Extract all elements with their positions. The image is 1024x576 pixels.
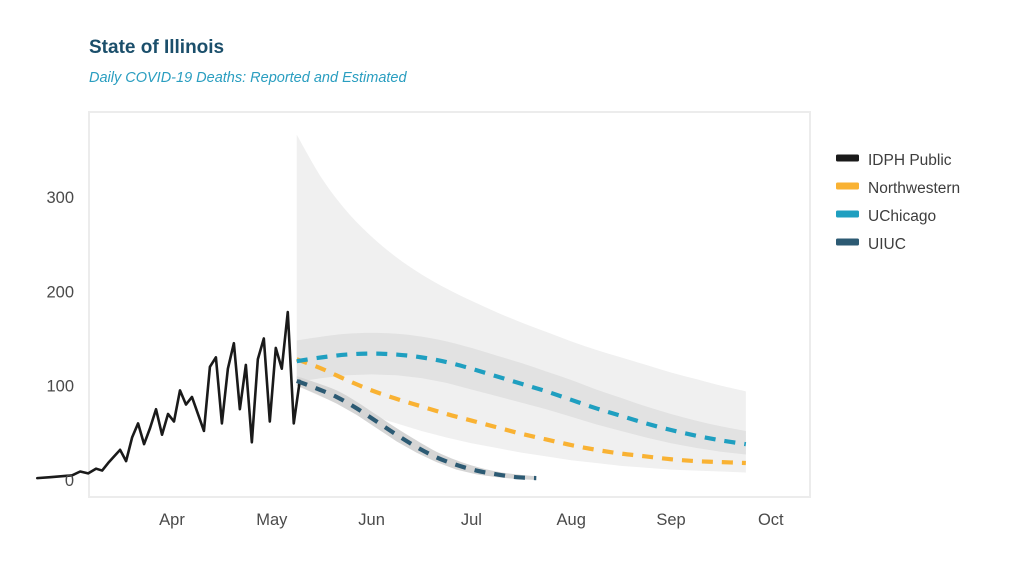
figure-background: [0, 0, 1024, 576]
x-tick-label: Aug: [557, 511, 586, 529]
x-tick-label: Jun: [358, 511, 385, 529]
legend-label[interactable]: UIUC: [868, 236, 906, 253]
legend-label[interactable]: UChicago: [868, 208, 936, 225]
page-title: State of Illinois: [89, 37, 224, 58]
legend-label[interactable]: IDPH Public: [868, 152, 952, 169]
chart-subtitle: Daily COVID-19 Deaths: Reported and Esti…: [89, 70, 407, 86]
x-tick-label: Sep: [656, 511, 685, 529]
y-tick-label: 0: [65, 472, 74, 490]
y-tick-label: 300: [46, 189, 74, 207]
x-tick-label: May: [256, 511, 288, 529]
y-tick-label: 200: [46, 283, 74, 301]
x-tick-label: Oct: [758, 511, 784, 529]
y-tick-label: 100: [46, 378, 74, 396]
legend-swatch: [836, 155, 859, 162]
x-tick-label: Apr: [159, 511, 185, 529]
chart-figure: State of Illinois Daily COVID-19 Deaths:…: [0, 0, 1024, 576]
legend-swatch: [836, 239, 859, 246]
x-tick-label: Jul: [461, 511, 482, 529]
legend-swatch: [836, 183, 859, 190]
legend-swatch: [836, 211, 859, 218]
legend-label[interactable]: Northwestern: [868, 180, 960, 197]
